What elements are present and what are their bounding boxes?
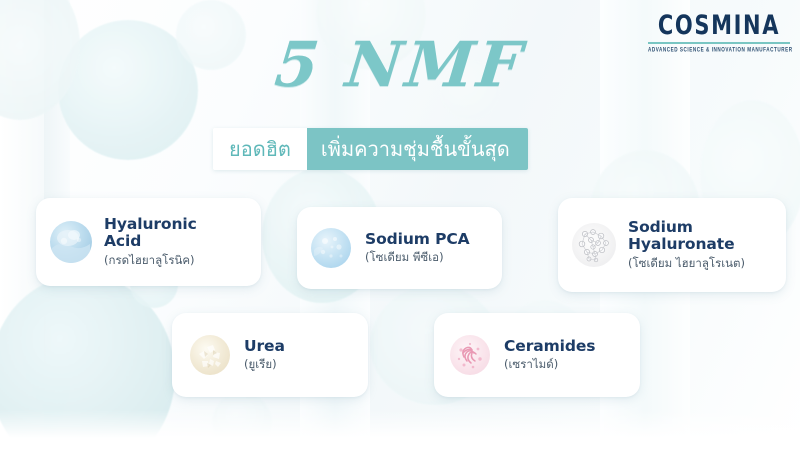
- molecule-cluster-icon: [572, 223, 616, 267]
- ingredient-name-line1: Sodium: [628, 218, 693, 236]
- water-droplet-icon: [50, 221, 92, 263]
- ingredient-name-en: Hyaluronic Acid: [104, 216, 197, 251]
- ingredient-name-en: Urea: [244, 338, 285, 355]
- ingredient-name-th: (เซราไมด์): [504, 357, 595, 373]
- ingredient-name-th: (ยูเรีย): [244, 357, 285, 373]
- page-title: 5 NMF: [0, 28, 800, 101]
- ingredient-name-en: Ceramides: [504, 338, 595, 355]
- ingredient-name-line2: Hyaluronate: [628, 235, 735, 253]
- background-bottom-fade: [0, 410, 800, 450]
- ingredient-name-line1: Hyaluronic: [104, 215, 197, 233]
- ingredient-text: Urea (ยูเรีย): [244, 338, 285, 373]
- crystal-granules-icon: [190, 335, 230, 375]
- ingredient-card[interactable]: Hyaluronic Acid (กรดไฮยาลูโรนิค): [36, 198, 261, 286]
- ingredient-text: Sodium PCA (โซเดียม พีซีเอ): [365, 231, 470, 266]
- ingredient-name-en: Sodium Hyaluronate: [628, 219, 745, 254]
- popular-badge: ยอดฮิต: [213, 128, 307, 170]
- ingredient-name-th: (โซเดียม ไฮยาลูโรเนต): [628, 256, 745, 272]
- ingredient-card[interactable]: Ceramides (เซราไมด์): [434, 313, 640, 397]
- ingredient-text: Ceramides (เซราไมด์): [504, 338, 595, 373]
- lipid-cluster-icon: [450, 335, 490, 375]
- ingredient-card[interactable]: Urea (ยูเรีย): [172, 313, 368, 397]
- bubble-sphere-icon: [311, 228, 351, 268]
- subtitle-text: เพิ่มความชุ่มชื้นขั้นสุด: [307, 128, 528, 170]
- ingredient-name-th: (กรดไฮยาลูโรนิค): [104, 253, 197, 269]
- ingredient-name-en: Sodium PCA: [365, 231, 470, 248]
- ingredient-text: Sodium Hyaluronate (โซเดียม ไฮยาลูโรเนต): [628, 219, 745, 271]
- ingredient-text: Hyaluronic Acid (กรดไฮยาลูโรนิค): [104, 216, 197, 268]
- ingredient-card[interactable]: Sodium PCA (โซเดียม พีซีเอ): [297, 207, 502, 289]
- ingredient-name-th: (โซเดียม พีซีเอ): [365, 250, 470, 266]
- subtitle-banner: ยอดฮิต เพิ่มความชุ่มชื้นขั้นสุด: [213, 128, 528, 170]
- ingredient-name-line2: Acid: [104, 232, 141, 250]
- ingredient-card[interactable]: Sodium Hyaluronate (โซเดียม ไฮยาลูโรเนต): [558, 198, 786, 292]
